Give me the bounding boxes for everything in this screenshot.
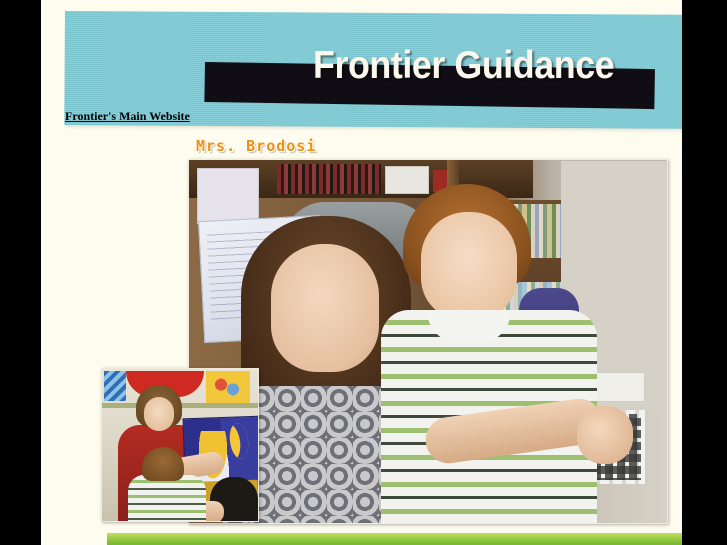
page-title: Frontier Guidance — [313, 44, 614, 88]
photo2-boy-hair — [142, 447, 184, 481]
photo-mrs-brodosi-reading-to-child — [101, 368, 259, 522]
frontier-main-website-link[interactable]: Frontier's Main Website — [65, 109, 190, 124]
photo-white-box — [385, 166, 429, 194]
footer-green-band — [107, 533, 682, 545]
photo-mrs-brodosi-with-student — [188, 159, 668, 524]
caption-mrs-brodosi: Mrs. Brodosi — [196, 137, 316, 155]
photo2-wall-art-yellow — [206, 371, 250, 407]
photo-woman-hand — [577, 406, 633, 464]
photo-boy-face — [421, 212, 517, 320]
photo-paper-sheet — [197, 168, 259, 224]
photo-woman-face — [271, 244, 379, 372]
photo2-wall-art-blue — [104, 371, 126, 401]
photo2-boy-striped-shirt — [128, 475, 206, 522]
photo-books-top-shelf — [277, 164, 381, 194]
screenshot-viewport: Frontier Guidance Frontier's Main Websit… — [0, 0, 727, 545]
photo2-woman-face — [144, 397, 174, 431]
page-canvas: Frontier Guidance Frontier's Main Websit… — [41, 0, 682, 545]
